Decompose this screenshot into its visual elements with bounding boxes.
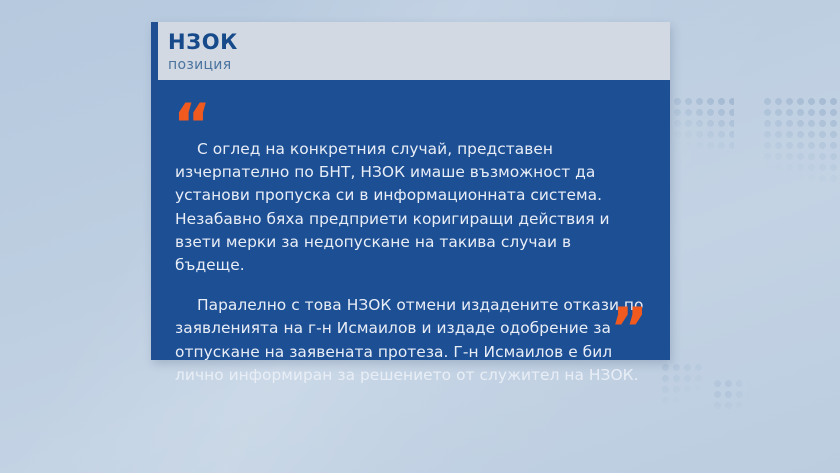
brand-name: НЗОК (168, 32, 238, 53)
quote-close-icon: ” (610, 300, 648, 358)
quote-text: С оглед на конкретния случай, представен… (175, 138, 645, 387)
halftone-dots-cluster-upper-right (762, 96, 840, 182)
halftone-dots-cluster-upper-left (672, 96, 734, 152)
card-accent-rail (151, 22, 158, 360)
brand-lockup: НЗОК позиция (168, 32, 238, 72)
card-body: “ С оглед на конкретния случай, представ… (158, 80, 670, 360)
brand-subtitle: позиция (168, 58, 238, 72)
quote-paragraph: Паралелно с това НЗОК отмени издадените … (175, 294, 645, 387)
broadcast-graphic-stage: НЗОК позиция “ С оглед на конкретния слу… (0, 0, 840, 473)
card-header: НЗОК позиция (158, 22, 670, 80)
halftone-dots-cluster-lower-right (712, 378, 752, 414)
quote-card: НЗОК позиция “ С оглед на конкретния слу… (151, 22, 670, 360)
halftone-dots-cluster-lower-left (660, 362, 706, 408)
quote-paragraph: С оглед на конкретния случай, представен… (175, 138, 645, 277)
